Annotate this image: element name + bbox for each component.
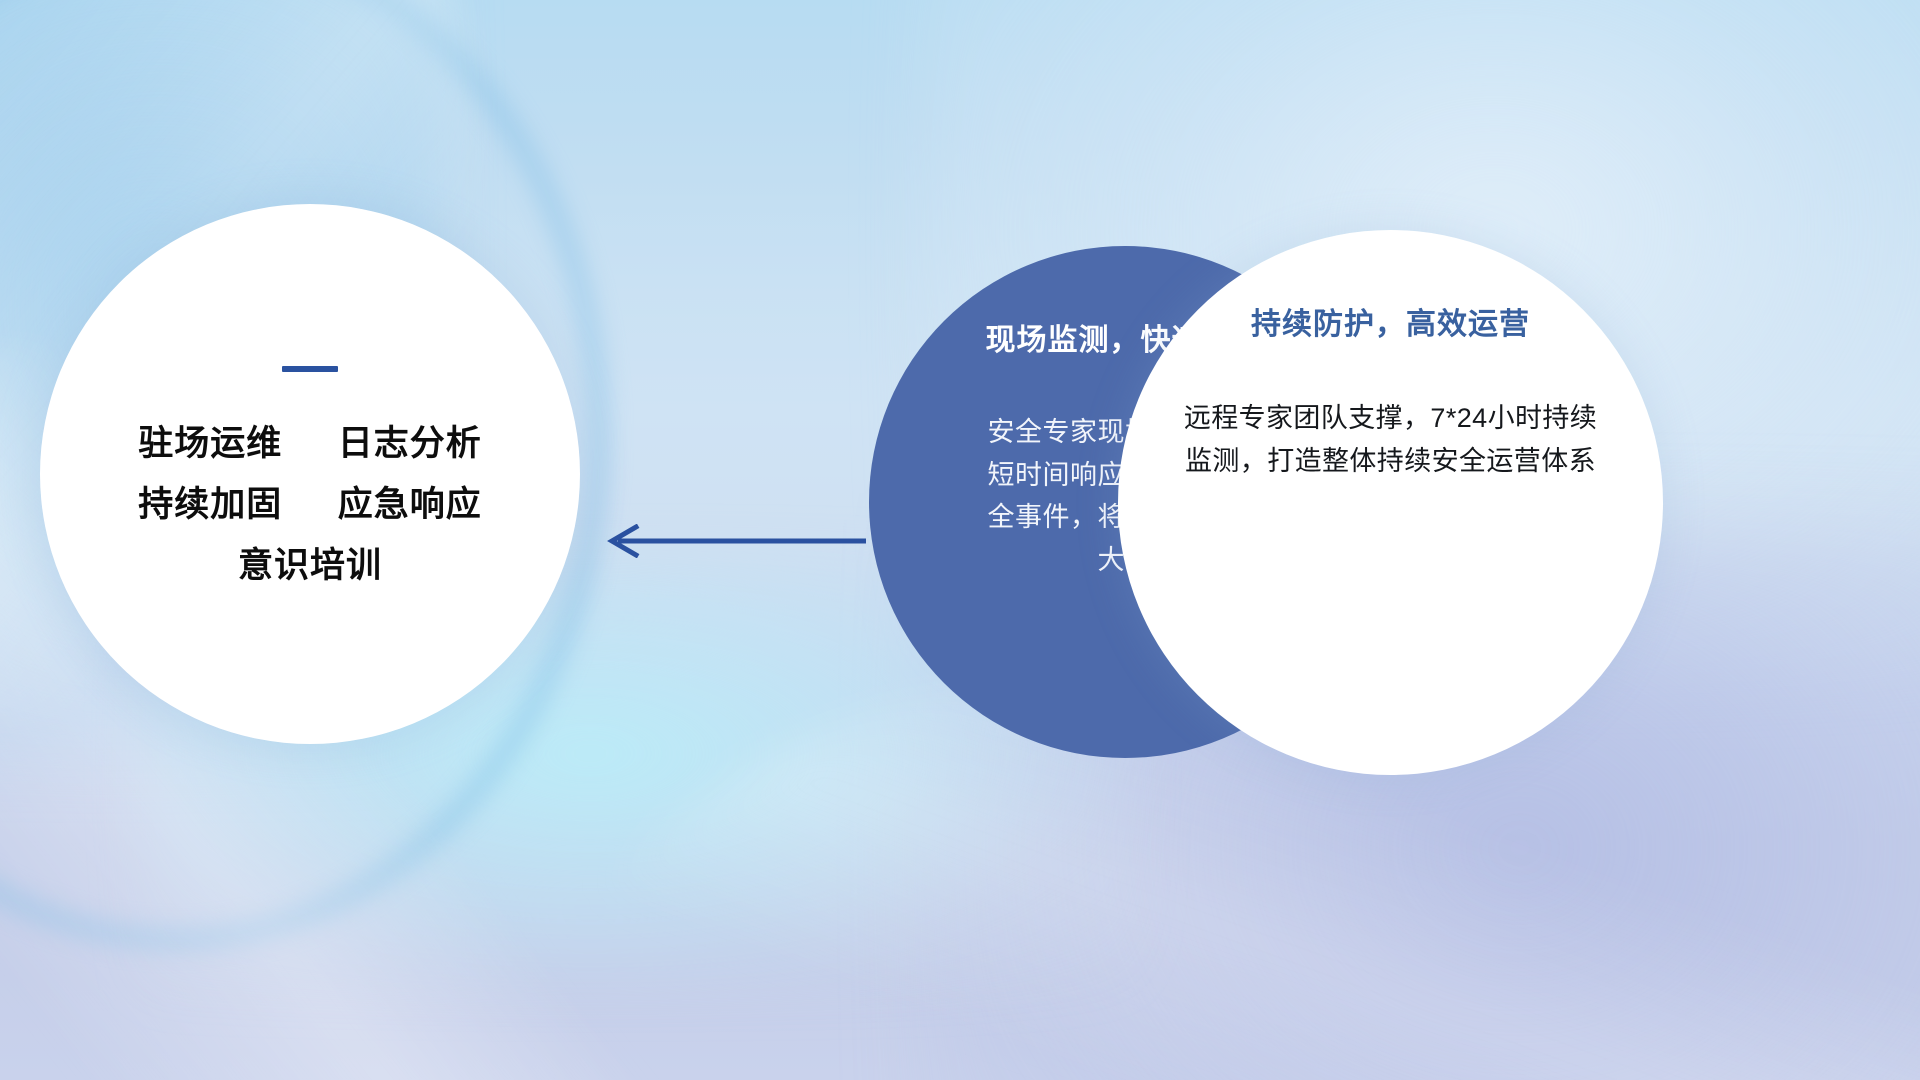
card-service-capabilities-content: 驻场运维 日志分析 持续加固 应急响应 意识培训: [40, 204, 580, 744]
card-continuous-protection-body: 远程专家团队支撑，7*24小时持续监测，打造整体持续安全运营体系: [1181, 397, 1601, 483]
card-continuous-protection-title: 持续防护，高效运营: [1251, 308, 1530, 341]
capability-label: 驻场运维: [138, 424, 282, 463]
capability-label: 应急响应: [338, 485, 482, 524]
capability-row: 持续加固 应急响应: [138, 487, 482, 522]
capability-label: 日志分析: [338, 424, 482, 463]
capability-list: 驻场运维 日志分析 持续加固 应急响应 意识培训: [138, 426, 482, 583]
connector-arrow: [596, 524, 868, 558]
card-continuous-protection[interactable]: 持续防护，高效运营 远程专家团队支撑，7*24小时持续监测，打造整体持续安全运营…: [1118, 230, 1663, 775]
arrow-left-icon: [596, 524, 868, 558]
capability-label: 意识培训: [238, 546, 382, 585]
card-continuous-protection-content: 持续防护，高效运营 远程专家团队支撑，7*24小时持续监测，打造整体持续安全运营…: [1118, 230, 1663, 775]
divider-dash-icon: [282, 366, 338, 372]
capability-row-last: 意识培训: [238, 548, 382, 583]
capability-row: 驻场运维 日志分析: [138, 426, 482, 461]
slide-canvas: 现场监测，快速响应 安全专家现场保障，最短时间响应突发网络安全事件，将服务效率最…: [0, 0, 1920, 1080]
card-service-capabilities[interactable]: 驻场运维 日志分析 持续加固 应急响应 意识培训: [40, 204, 580, 744]
capability-label: 持续加固: [138, 485, 282, 524]
